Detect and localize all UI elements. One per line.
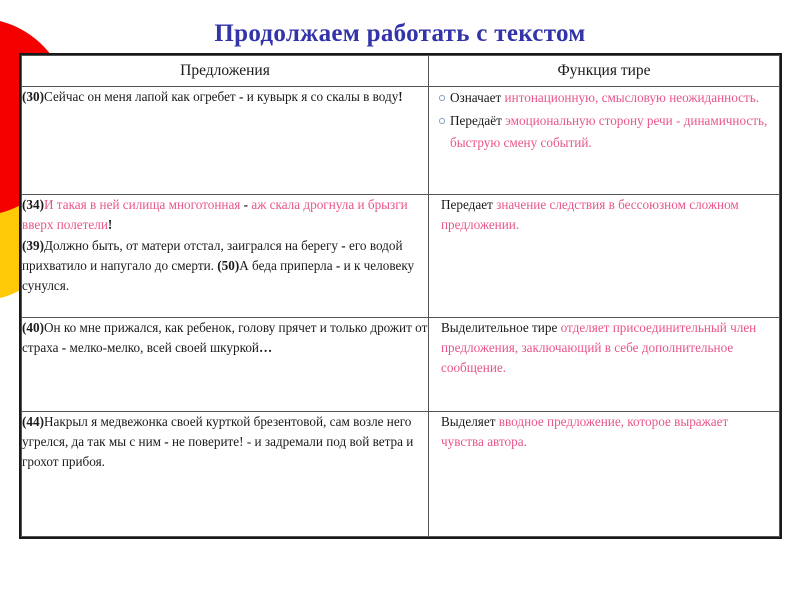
table-row: (34)И такая в ней силища многотонная - а… [22, 195, 780, 318]
sentence-end-mark: ! [398, 89, 402, 104]
sentence-number: (40) [22, 320, 44, 335]
function-bullet-list: Означает интонационную, смысловую неожид… [441, 87, 773, 153]
page-title: Продолжаем работать с текстом [0, 20, 800, 48]
cell-function-3: Выделительное тире отделяет присоедините… [429, 318, 780, 412]
sentence-number: (30) [22, 89, 44, 104]
function-lead-text: Выделительное тире [441, 320, 561, 335]
sentence-text-after: мелко-мелко, всей своей шкуркой [66, 340, 259, 355]
cell-function-2: Передает значение следствия в бессоюзном… [429, 195, 780, 318]
function-lead-text: Выделяет [441, 414, 499, 429]
cell-sentences-1: (30)Сейчас он меня лапой как огребет - и… [22, 87, 429, 195]
sentence-entry: (30)Сейчас он меня лапой как огребет - и… [22, 87, 428, 107]
function-text: Передает значение следствия в бессоюзном… [441, 195, 773, 235]
content-table-wrapper: Предложения Функция тире (30)Сейчас он м… [21, 55, 779, 537]
sentence-number: (34) [22, 197, 44, 212]
table-row: (40)Он ко мне прижался, как ребенок, гол… [22, 318, 780, 412]
content-table: Предложения Функция тире (30)Сейчас он м… [21, 55, 780, 537]
cell-sentences-2: (34)И такая в ней силища многотонная - а… [22, 195, 429, 318]
sentence-number: (50) [217, 258, 239, 273]
sentence-text-before: Должно быть, от матери отстал, заигрался… [44, 238, 341, 253]
sentence-text-before: А беда приперла [239, 258, 336, 273]
sentence-entry: (40)Он ко мне прижался, как ребенок, гол… [22, 318, 428, 358]
table-row: (30)Сейчас он меня лапой как огребет - и… [22, 87, 780, 195]
cell-function-4: Выделяет вводное предложение, которое вы… [429, 412, 780, 537]
sentence-text-before: Сейчас он меня лапой как огребет [44, 89, 239, 104]
sentence-entry: (39)Должно быть, от матери отстал, заигр… [22, 236, 428, 296]
column-header-dash-function: Функция тире [429, 56, 780, 87]
sentence-number: (39) [22, 238, 44, 253]
sentence-text-after: и кувырк я со скалы в воду [243, 89, 398, 104]
sentence-end-mark: … [259, 340, 272, 355]
bullet-lead-text: Передаёт [450, 113, 505, 128]
sentence-entry: (44)Накрыл я медвежонка своей курткой бр… [22, 412, 428, 472]
list-item: Означает интонационную, смысловую неожид… [441, 87, 773, 108]
cell-sentences-3: (40)Он ко мне прижался, как ребенок, гол… [22, 318, 429, 412]
function-lead-text: Передает [441, 197, 496, 212]
column-header-sentences: Предложения [22, 56, 429, 87]
bullet-lead-text: Означает [450, 90, 505, 105]
table-row: (44)Накрыл я медвежонка своей курткой бр… [22, 412, 780, 537]
list-item: Передаёт эмоциональную сторону речи - ди… [441, 110, 773, 153]
cell-function-1: Означает интонационную, смысловую неожид… [429, 87, 780, 195]
bullet-highlight-text: интонационную, смысловую неожиданность. [505, 90, 760, 105]
table-header-row: Предложения Функция тире [22, 56, 780, 87]
sentence-entry: (34)И такая в ней силища многотонная - а… [22, 195, 428, 235]
function-text: Выделительное тире отделяет присоедините… [441, 318, 773, 378]
sentence-number: (44) [22, 414, 44, 429]
function-text: Выделяет вводное предложение, которое вы… [441, 412, 773, 452]
cell-sentences-4: (44)Накрыл я медвежонка своей курткой бр… [22, 412, 429, 537]
sentence-text-before: И такая в ней силища многотонная [44, 197, 244, 212]
sentence-end-mark: ! [108, 217, 112, 232]
